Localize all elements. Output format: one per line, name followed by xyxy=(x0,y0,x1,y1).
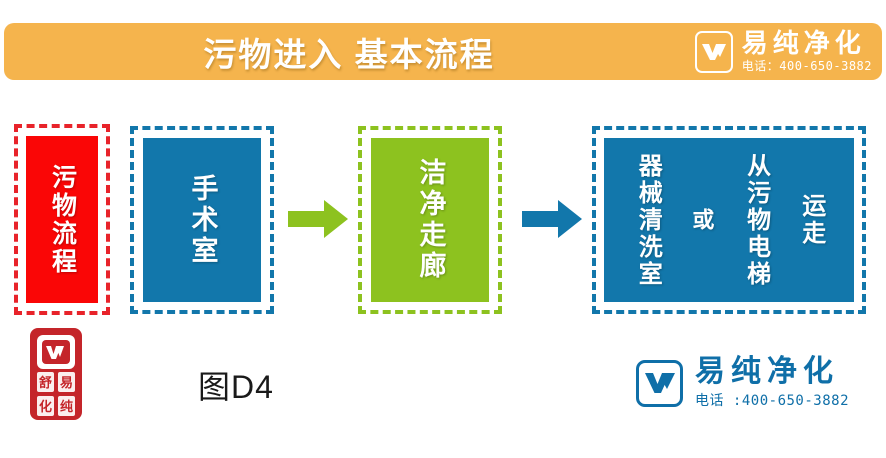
header-banner: 污物进入 基本流程 易纯净化 电话：400-650-3882 xyxy=(4,23,882,80)
flow-node-pollutant-flow[interactable]: 污物流程 xyxy=(26,136,98,303)
footer-brand: 易纯净化 电话 :400-650-3882 xyxy=(636,352,849,414)
flow-node-clean-corridor[interactable]: 洁净走廊 xyxy=(371,138,489,302)
footer-brand-text: 易纯净化 电话 :400-650-3882 xyxy=(695,356,849,411)
svg-text:纯: 纯 xyxy=(60,399,73,415)
header-brand-phone: 电话：400-650-3882 xyxy=(742,59,872,75)
header-brand: 易纯净化 电话：400-650-3882 xyxy=(695,27,872,77)
footer-brand-phone: 电话 :400-650-3882 xyxy=(695,390,849,410)
svg-text:舒: 舒 xyxy=(39,375,52,391)
red-seal-stamp-icon: 舒 易 化 纯 xyxy=(28,326,84,422)
flow-node-label: 污物流程 xyxy=(50,164,75,276)
flow-node-column-label: 或 xyxy=(690,208,712,233)
yichun-w-mark-icon xyxy=(636,360,683,407)
flow-node-column-label: 从污物电梯 xyxy=(744,153,768,288)
arrow-right-icon xyxy=(288,196,350,242)
flowchart-page: 污物进入 基本流程 易纯净化 电话：400-650-3882 污物流程 手术室 xyxy=(0,0,886,458)
header-brand-text: 易纯净化 电话：400-650-3882 xyxy=(742,30,872,75)
flow-node-disposal-destination[interactable]: 器械清洗室 或 从污物电梯 运走 xyxy=(604,138,854,302)
flow-node-column-label: 器械清洗室 xyxy=(635,153,659,288)
footer-brand-name: 易纯净化 xyxy=(695,356,839,388)
page-title: 污物进入 基本流程 xyxy=(4,23,694,80)
flow-node-label: 洁净走廊 xyxy=(417,158,444,282)
arrow-right-icon xyxy=(522,196,584,242)
figure-caption: 图D4 xyxy=(198,362,274,408)
flow-node-column-label: 运走 xyxy=(799,193,823,247)
header-brand-name: 易纯净化 xyxy=(742,30,866,57)
yichun-w-mark-icon xyxy=(695,31,733,73)
svg-text:化: 化 xyxy=(39,399,52,415)
svg-text:易: 易 xyxy=(60,376,73,391)
flow-node-label: 手术室 xyxy=(189,174,216,267)
flow-node-operating-room[interactable]: 手术室 xyxy=(143,138,261,302)
